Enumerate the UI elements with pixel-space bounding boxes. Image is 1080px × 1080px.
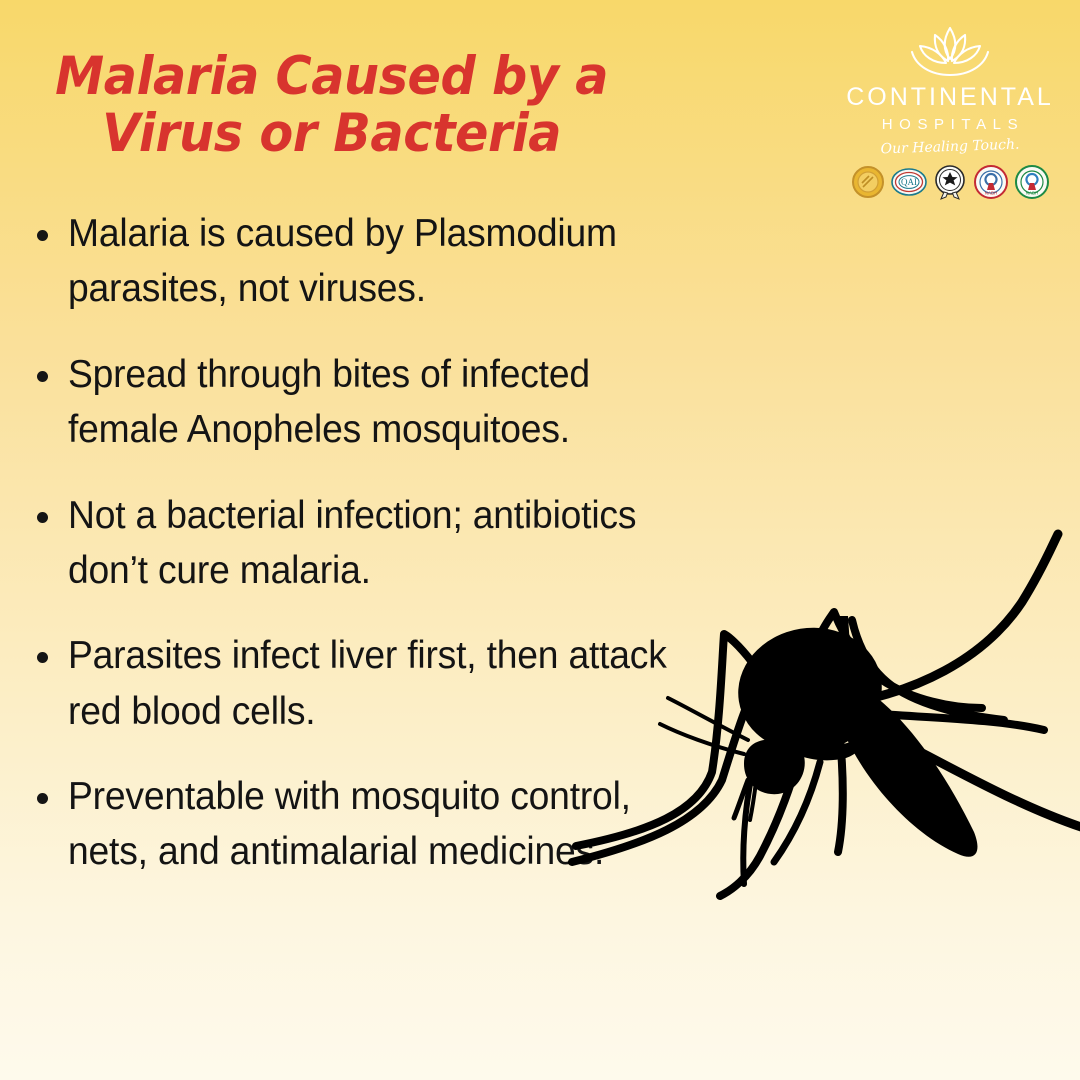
bullet-dot-icon	[37, 371, 48, 382]
page-title-line-1: Malaria Caused by a	[34, 48, 629, 105]
bullet-text: Preventable with mosquito control, nets,…	[68, 769, 698, 880]
bullet-dot-icon	[37, 793, 48, 804]
bullet-dot-icon	[37, 512, 48, 523]
bullet-text: Spread through bites of infected female …	[68, 347, 698, 458]
brand-name: CONTINENTAL	[842, 85, 1058, 110]
svg-text:QAI: QAI	[901, 177, 917, 187]
bullet-dot-icon	[37, 652, 48, 663]
bullet-text: Not a bacterial infection; antibiotics d…	[68, 488, 698, 599]
nabh-red-badge: NABH	[972, 163, 1010, 201]
bullet-list: Malaria is caused by Plasmodium parasite…	[28, 206, 728, 910]
bullet-text: Malaria is caused by Plasmodium parasite…	[68, 206, 698, 317]
svg-text:NABH: NABH	[985, 191, 998, 196]
bullet-dot-icon	[37, 230, 48, 241]
list-item: Not a bacterial infection; antibiotics d…	[28, 488, 728, 599]
list-item: Spread through bites of infected female …	[28, 347, 728, 458]
brand-subtitle: HOSPITALS	[842, 117, 1058, 132]
poster-canvas: Malaria Caused by a Virus or Bacteria CO…	[0, 0, 1080, 1080]
qai-accreditation-badge: QAI	[890, 163, 928, 201]
brand-logo-block: CONTINENTAL HOSPITALS Our Healing Touch.…	[842, 22, 1058, 201]
gold-medal-badge	[849, 163, 887, 201]
list-item: Preventable with mosquito control, nets,…	[28, 769, 728, 880]
nabh-green-badge: NABH	[1013, 163, 1051, 201]
bullet-text: Parasites infect liver first, then attac…	[68, 628, 698, 739]
page-title: Malaria Caused by a Virus or Bacteria	[34, 48, 629, 162]
list-item: Malaria is caused by Plasmodium parasite…	[28, 206, 728, 317]
page-title-line-2: Virus or Bacteria	[34, 105, 629, 162]
svg-text:NABH: NABH	[1026, 191, 1039, 196]
lotus-icon	[904, 22, 996, 84]
star-seal-badge	[931, 163, 969, 201]
list-item: Parasites infect liver first, then attac…	[28, 628, 728, 739]
brand-tagline: Our Healing Touch.	[842, 136, 1058, 158]
accreditation-badge-row: QAI NABH	[842, 163, 1058, 201]
